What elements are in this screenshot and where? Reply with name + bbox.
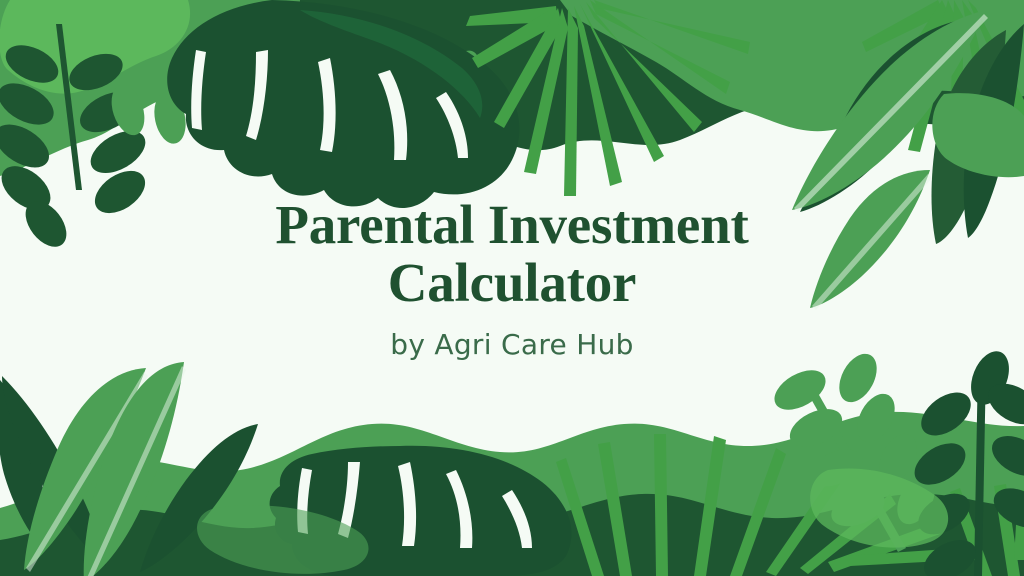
top-dark-band — [0, 0, 1024, 150]
bottom-monstera-leaf — [270, 446, 572, 576]
leaflet-stem — [328, 36, 470, 86]
top-monstera-leaf — [167, 0, 519, 208]
page-subtitle: by Agri Care Hub — [0, 312, 1024, 362]
fern-stem — [56, 24, 82, 190]
title-block: Parental Investment Calculator by Agri C… — [0, 196, 1024, 362]
bottom-left-mound-highlight — [197, 505, 368, 574]
top-center-leaflet-cluster — [328, 36, 490, 150]
bottom-right-fern-sprig-dark — [907, 346, 1024, 576]
top-palm-frond — [466, 0, 1024, 196]
top-left-fern-sprig-mid — [106, 81, 190, 147]
page-title-line-2: Calculator — [0, 254, 1024, 312]
top-mid-band-left — [0, 0, 300, 176]
top-mid-band-right — [560, 0, 1024, 131]
top-right-blob — [932, 93, 1024, 177]
bottom-palm-frond — [556, 434, 1024, 576]
top-left-light-blob — [0, 0, 190, 94]
bottom-decoration-group — [0, 346, 1024, 576]
bottom-right-fern-sprig-mid — [768, 348, 943, 552]
fern-stem — [974, 364, 986, 576]
bottom-dark-mound — [0, 494, 1024, 576]
bottom-left-pointed-leaves — [0, 362, 258, 576]
page-title: Parental Investment Calculator — [0, 196, 1024, 312]
page-title-line-1: Parental Investment — [0, 196, 1024, 254]
fern-stem — [798, 372, 906, 552]
bottom-mound-highlight — [810, 468, 948, 547]
bottom-mid-mound — [0, 412, 1024, 576]
title-slide: Parental Investment Calculator by Agri C… — [0, 0, 1024, 576]
